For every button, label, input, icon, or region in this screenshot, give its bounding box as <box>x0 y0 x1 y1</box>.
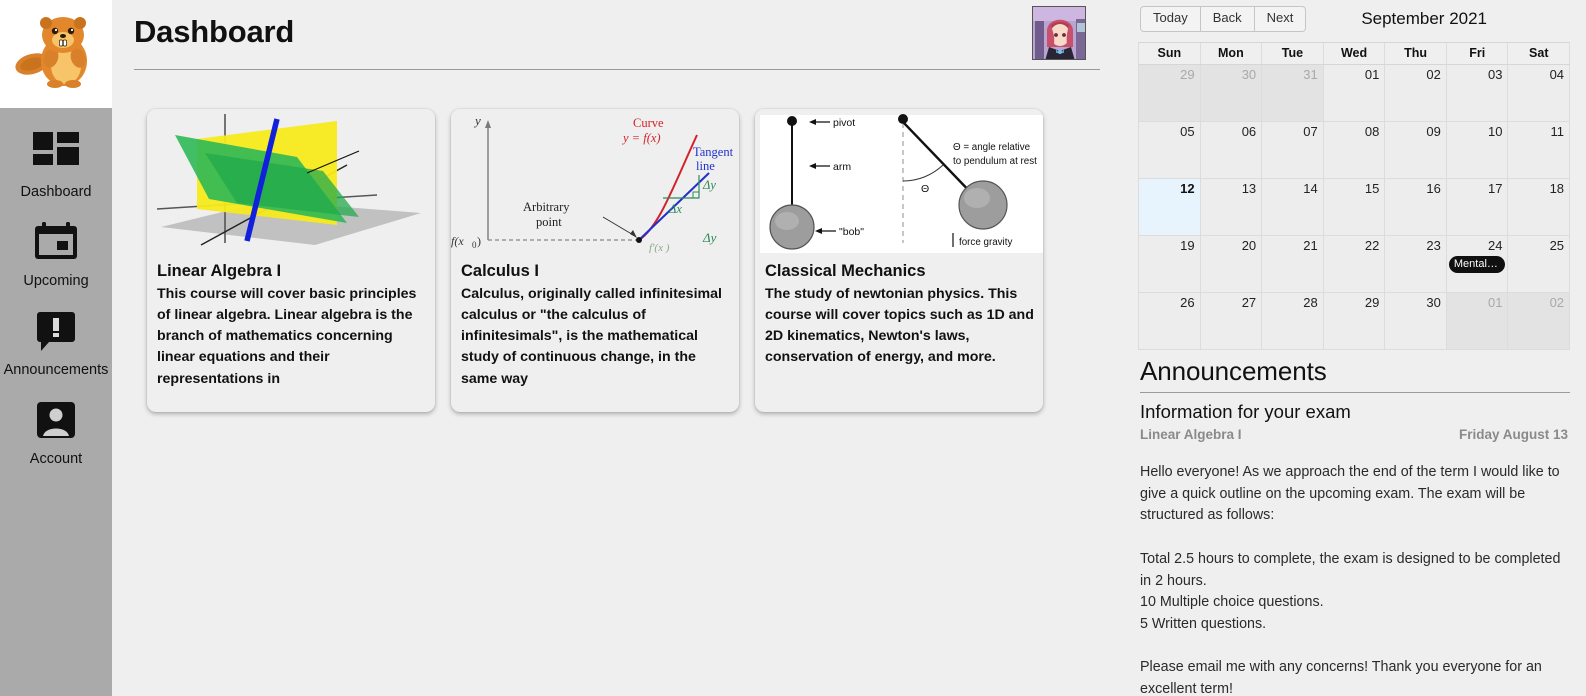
sidebar-item-label: Dashboard <box>21 185 92 201</box>
calendar-day-number: 20 <box>1242 238 1256 253</box>
announcements-heading: Announcements <box>1138 350 1570 391</box>
sidebar-item-label: Announcements <box>4 363 109 379</box>
calendar-day-cell[interactable]: 15 <box>1324 179 1386 236</box>
calendar-day-number: 06 <box>1242 124 1256 139</box>
beaver-logo-icon <box>15 14 97 94</box>
calendar-day-number: 29 <box>1365 295 1379 310</box>
svg-text:y: y <box>473 113 481 128</box>
calendar-day-number: 28 <box>1303 295 1317 310</box>
course-description: Calculus, originally called infinitesima… <box>451 283 739 389</box>
calendar-event-badge[interactable]: Mental W... <box>1449 256 1506 273</box>
sidebar-item-upcoming[interactable]: Upcoming <box>0 211 112 300</box>
calendar-day-cell[interactable]: 18 <box>1508 179 1570 236</box>
app-root: Dashboard Upcoming <box>0 0 1586 696</box>
calendar-day-cell[interactable]: 09 <box>1385 122 1447 179</box>
sidebar-item-announcements[interactable]: Announcements <box>0 300 112 389</box>
calendar-day-number: 31 <box>1303 67 1317 82</box>
calendar-day-cell[interactable]: 17 <box>1447 179 1509 236</box>
calendar-day-number: 01 <box>1488 295 1502 310</box>
course-title: Calculus I <box>451 253 739 283</box>
calendar-day-cell[interactable]: 13 <box>1201 179 1263 236</box>
calculus-tangent-line-diagram: y f(x 0 ) Arbitrary point Curve y = f( <box>451 109 739 253</box>
course-title: Classical Mechanics <box>755 253 1043 283</box>
calendar-day-number: 23 <box>1426 238 1440 253</box>
calendar-day-cell[interactable]: 11 <box>1508 122 1570 179</box>
account-person-icon <box>32 397 80 445</box>
calendar-day-cell[interactable]: 02 <box>1385 65 1447 122</box>
calendar-day-number: 16 <box>1426 181 1440 196</box>
calendar-day-cell[interactable]: 19 <box>1139 236 1201 293</box>
calendar-day-cell[interactable]: 30 <box>1201 65 1263 122</box>
svg-text:Θ: Θ <box>921 183 929 195</box>
svg-text:arm: arm <box>833 161 851 173</box>
calendar-month-label: September 2021 <box>1306 9 1570 29</box>
sidebar-item-dashboard[interactable]: Dashboard <box>0 122 112 211</box>
page-title: Dashboard <box>134 14 294 50</box>
course-title: Linear Algebra I <box>147 253 435 283</box>
announcements-divider <box>1140 392 1570 393</box>
calendar-day-number: 24 <box>1488 238 1502 253</box>
course-description: This course will cover basic principles … <box>147 283 435 389</box>
calendar-day-cell[interactable]: 07 <box>1262 122 1324 179</box>
calendar-day-number: 07 <box>1303 124 1317 139</box>
course-card[interactable]: pivot arm "bob" Θ <box>755 109 1043 412</box>
dashboard-grid-icon <box>32 130 80 178</box>
announcement-title: Information for your exam <box>1138 399 1570 426</box>
calendar-day-cell[interactable]: 08 <box>1324 122 1386 179</box>
sidebar: Dashboard Upcoming <box>0 0 112 696</box>
calendar-day-number: 21 <box>1303 238 1317 253</box>
svg-text:point: point <box>536 215 562 229</box>
calendar-day-cell[interactable]: 27 <box>1201 293 1263 350</box>
calendar-day-cell[interactable]: 01 <box>1447 293 1509 350</box>
announcement-body: Hello everyone! As we approach the end o… <box>1138 442 1570 696</box>
calendar-day-number: 10 <box>1488 124 1502 139</box>
announcement-exclamation-icon <box>32 308 80 356</box>
linear-algebra-planes-illustration <box>147 109 435 253</box>
calendar-day-cell[interactable]: 02 <box>1508 293 1570 350</box>
calendar-day-cell[interactable]: 23 <box>1385 236 1447 293</box>
svg-text:to pendulum at rest: to pendulum at rest <box>953 156 1037 167</box>
svg-text:Δy: Δy <box>702 230 717 245</box>
calendar-week: 05 06 07 08 09 10 11 <box>1139 122 1570 179</box>
weekday-tue: Tue <box>1262 43 1324 64</box>
calendar-day-cell[interactable]: 06 <box>1201 122 1263 179</box>
calendar-day-number: 25 <box>1550 238 1564 253</box>
calendar-day-cell[interactable]: 26 <box>1139 293 1201 350</box>
calendar-toolbar: Today Back Next September 2021 <box>1138 4 1570 34</box>
weekday-wed: Wed <box>1324 43 1386 64</box>
calendar-day-cell[interactable]: 24 Mental W... <box>1447 236 1509 293</box>
sidebar-item-label: Upcoming <box>23 274 88 290</box>
calendar-day-number: 29 <box>1180 67 1194 82</box>
calendar-day-number: 18 <box>1550 181 1564 196</box>
calendar-week: 19 20 21 22 23 24 Mental W... 25 <box>1139 236 1570 293</box>
calendar-day-cell[interactable]: 31 <box>1262 65 1324 122</box>
calendar-day-cell[interactable]: 01 <box>1324 65 1386 122</box>
svg-text:f(x: f(x <box>451 234 464 248</box>
calendar-day-number: 30 <box>1242 67 1256 82</box>
header-divider <box>134 69 1100 70</box>
avatar[interactable] <box>1032 6 1086 60</box>
calendar-week: 12 13 14 15 16 17 18 <box>1139 179 1570 236</box>
calendar-day-number: 03 <box>1488 67 1502 82</box>
calendar-day-cell[interactable]: 22 <box>1324 236 1386 293</box>
calendar-day-cell[interactable]: 16 <box>1385 179 1447 236</box>
calendar-day-number: 05 <box>1180 124 1194 139</box>
svg-text:f'(x ): f'(x ) <box>649 242 670 253</box>
today-button[interactable]: Today <box>1140 6 1201 31</box>
announcement-date: Friday August 13 <box>1459 427 1568 442</box>
announcement-meta: Linear Algebra I Friday August 13 <box>1138 426 1570 442</box>
calendar-day-cell[interactable]: 04 <box>1508 65 1570 122</box>
svg-text:Curve: Curve <box>633 116 664 130</box>
svg-text:Δx: Δx <box>668 202 682 216</box>
right-panel: Today Back Next September 2021 Sun Mon T… <box>1130 0 1586 696</box>
calendar-day-cell[interactable]: 10 <box>1447 122 1509 179</box>
svg-text:"bob": "bob" <box>839 226 864 238</box>
calendar-day-cell[interactable]: 29 <box>1324 293 1386 350</box>
calendar-day-cell[interactable]: 21 <box>1262 236 1324 293</box>
svg-text:Tangent: Tangent <box>693 145 734 159</box>
calendar-week: 26 27 28 29 30 01 02 <box>1139 293 1570 350</box>
calendar-day-number: 27 <box>1242 295 1256 310</box>
calendar-day-number: 17 <box>1488 181 1502 196</box>
calendar-day-number: 12 <box>1180 181 1194 196</box>
svg-text:force gravity: force gravity <box>959 237 1012 248</box>
calendar-nav-buttons: Today Back Next <box>1140 6 1306 31</box>
calendar-day-cell[interactable]: 20 <box>1201 236 1263 293</box>
calendar-day-number: 08 <box>1365 124 1379 139</box>
svg-text:y = f(x): y = f(x) <box>621 131 661 145</box>
course-description: The study of newtonian physics. This cou… <box>755 283 1043 368</box>
calendar-grid: Sun Mon Tue Wed Thu Fri Sat 29 30 31 01 … <box>1138 42 1570 350</box>
calendar-day-number: 26 <box>1180 295 1194 310</box>
calendar-day-cell[interactable]: 03 <box>1447 65 1509 122</box>
svg-text:): ) <box>477 234 481 248</box>
calendar-week: 29 30 31 01 02 03 04 <box>1139 65 1570 122</box>
weekday-sun: Sun <box>1139 43 1201 64</box>
calendar-day-number: 02 <box>1426 67 1440 82</box>
svg-text:line: line <box>696 159 715 173</box>
page-header: Dashboard <box>134 0 1130 74</box>
next-button[interactable]: Next <box>1255 6 1307 31</box>
calendar-day-number: 14 <box>1303 181 1317 196</box>
pendulum-diagram: pivot arm "bob" Θ <box>755 109 1043 253</box>
app-logo[interactable] <box>0 0 112 108</box>
weekday-mon: Mon <box>1201 43 1263 64</box>
calendar-day-cell-today[interactable]: 12 <box>1139 179 1201 236</box>
weekday-sat: Sat <box>1508 43 1570 64</box>
svg-text:pivot: pivot <box>833 117 855 129</box>
calendar-day-number: 19 <box>1180 238 1194 253</box>
calendar-day-cell[interactable]: 25 <box>1508 236 1570 293</box>
svg-text:Arbitrary: Arbitrary <box>523 200 570 214</box>
course-card[interactable]: Linear Algebra I This course will cover … <box>147 109 435 412</box>
sidebar-item-account[interactable]: Account <box>0 389 112 478</box>
calendar-icon <box>32 219 80 267</box>
calendar-day-number: 04 <box>1550 67 1564 82</box>
svg-text:Θ = angle relative: Θ = angle relative <box>953 142 1031 153</box>
announcements-section: Announcements Information for your exam … <box>1138 350 1570 696</box>
calendar-day-cell[interactable]: 05 <box>1139 122 1201 179</box>
sidebar-nav: Dashboard Upcoming <box>0 108 112 478</box>
calendar-day-cell[interactable]: 14 <box>1262 179 1324 236</box>
calendar-weekday-header: Sun Mon Tue Wed Thu Fri Sat <box>1139 42 1570 65</box>
calendar-day-number: 30 <box>1426 295 1440 310</box>
announcement-item[interactable]: Information for your exam Linear Algebra… <box>1138 399 1570 696</box>
sidebar-item-label: Account <box>30 452 82 468</box>
main-content: Dashboard <box>112 0 1130 696</box>
calendar-day-number: 02 <box>1550 295 1564 310</box>
course-card-list: Linear Algebra I This course will cover … <box>134 74 1130 412</box>
weekday-thu: Thu <box>1385 43 1447 64</box>
calendar-day-number: 01 <box>1365 67 1379 82</box>
calendar-day-cell[interactable]: 30 <box>1385 293 1447 350</box>
calendar-day-cell[interactable]: 29 <box>1139 65 1201 122</box>
course-card[interactable]: y f(x 0 ) Arbitrary point Curve y = f( <box>451 109 739 412</box>
weekday-fri: Fri <box>1447 43 1509 64</box>
calendar-day-number: 11 <box>1551 124 1565 139</box>
calendar-day-number: 22 <box>1365 238 1379 253</box>
calendar-day-number: 13 <box>1242 181 1256 196</box>
announcement-course: Linear Algebra I <box>1140 427 1242 442</box>
calendar-day-cell[interactable]: 28 <box>1262 293 1324 350</box>
calendar-day-number: 15 <box>1365 181 1379 196</box>
back-button[interactable]: Back <box>1201 6 1255 31</box>
svg-text:Δy: Δy <box>702 178 716 192</box>
calendar-day-number: 09 <box>1426 124 1440 139</box>
